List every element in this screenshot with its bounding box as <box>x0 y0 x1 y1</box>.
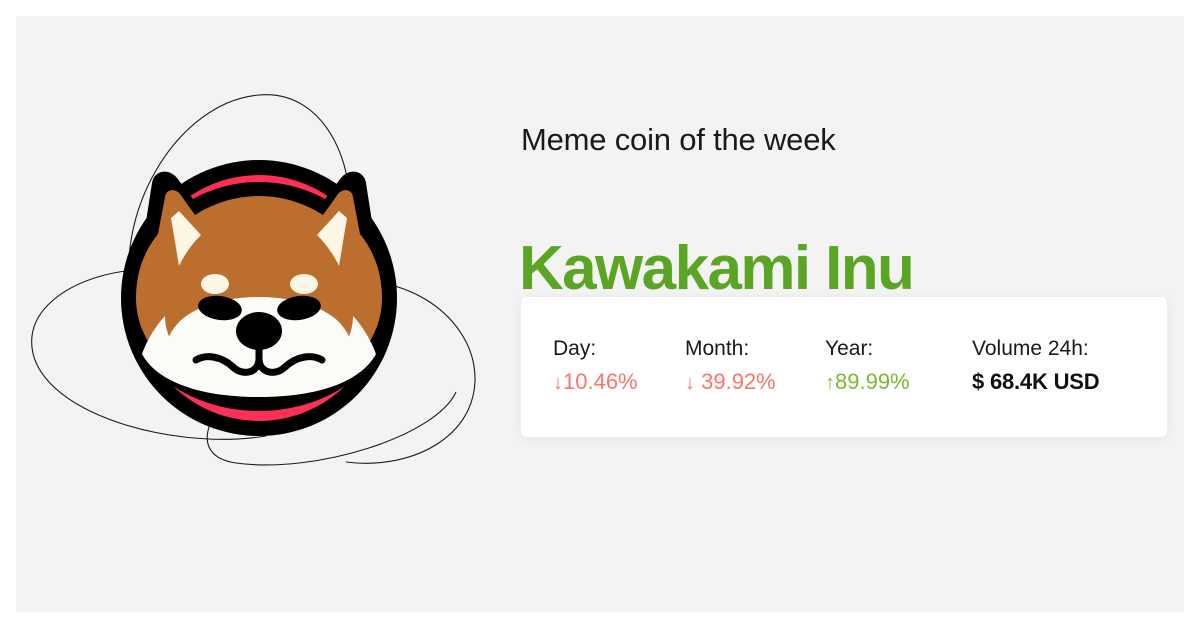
stats-card: Day: ↓10.46% Month: ↓ 39.92% Year: ↑89.9… <box>521 297 1167 437</box>
left-eye-highlight <box>201 274 229 294</box>
coin-artwork <box>16 16 516 612</box>
arrow-down-icon: ↓ <box>553 368 563 398</box>
stat-volume-24h: Volume 24h: $ 68.4K USD <box>972 335 1099 397</box>
stat-volume-value: $ 68.4K USD <box>972 367 1099 397</box>
stat-day: Day: ↓10.46% <box>553 335 638 398</box>
content-column: Meme coin of the week Kawakami Inu Day: … <box>505 16 1184 612</box>
shiba-inu-coin-logo <box>16 16 516 612</box>
stat-month-value: ↓ 39.92% <box>685 367 776 398</box>
stat-year: Year: ↑89.99% <box>825 335 910 398</box>
eyebrow-text: Meme coin of the week <box>521 120 836 160</box>
stat-year-label: Year: <box>825 335 910 363</box>
right-eye-highlight <box>290 274 318 294</box>
stats-row: Day: ↓10.46% Month: ↓ 39.92% Year: ↑89.9… <box>521 297 1167 437</box>
coin-title: Kawakami Inu <box>519 231 913 307</box>
stat-day-label: Day: <box>553 335 638 363</box>
stat-volume-label: Volume 24h: <box>972 335 1099 363</box>
stat-day-value: ↓10.46% <box>553 367 638 398</box>
shiba-head <box>122 172 396 411</box>
stat-month-label: Month: <box>685 335 776 363</box>
arrow-down-icon: ↓ <box>685 368 695 398</box>
stat-day-number: 10.46% <box>563 369 638 394</box>
stat-month: Month: ↓ 39.92% <box>685 335 776 398</box>
stat-year-number: 89.99% <box>835 369 910 394</box>
poster-frame: Meme coin of the week Kawakami Inu Day: … <box>16 16 1184 612</box>
stat-year-value: ↑89.99% <box>825 367 910 398</box>
stat-month-number: 39.92% <box>695 369 776 394</box>
arrow-up-icon: ↑ <box>825 368 835 398</box>
